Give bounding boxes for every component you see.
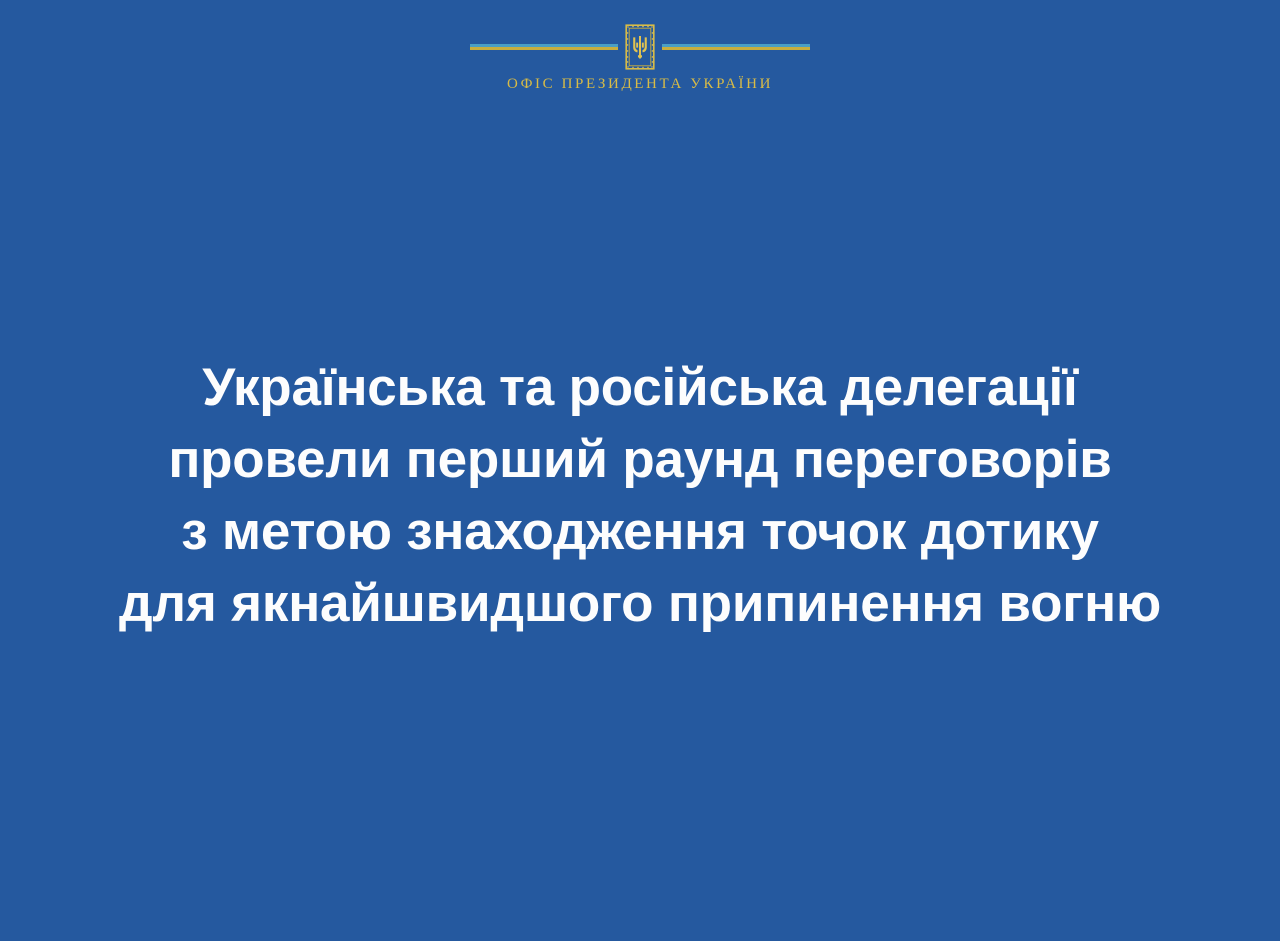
headline-line-2: провели перший раунд переговорів — [0, 424, 1280, 496]
rule-right-bottom-stripe — [662, 47, 810, 50]
logo-lockup — [470, 24, 810, 70]
headline-line-3: з метою знаходження точок дотику — [0, 496, 1280, 568]
header: ОФІС ПРЕЗИДЕНТА УКРАЇНИ — [0, 0, 1280, 110]
organization-name: ОФІС ПРЕЗИДЕНТА УКРАЇНИ — [507, 76, 773, 93]
ukraine-trident-emblem-icon — [625, 24, 655, 70]
headline-line-1: Українська та російська делегації — [0, 352, 1280, 424]
headline-line-4: для якнайшвидшого припинення вогню — [0, 568, 1280, 640]
headline: Українська та російська делегації провел… — [0, 352, 1280, 640]
announcement-card: ОФІС ПРЕЗИДЕНТА УКРАЇНИ Українська та ро… — [0, 0, 1280, 941]
decorative-rule-right — [662, 44, 810, 51]
rule-left-bottom-stripe — [470, 47, 618, 50]
decorative-rule-left — [470, 44, 618, 51]
